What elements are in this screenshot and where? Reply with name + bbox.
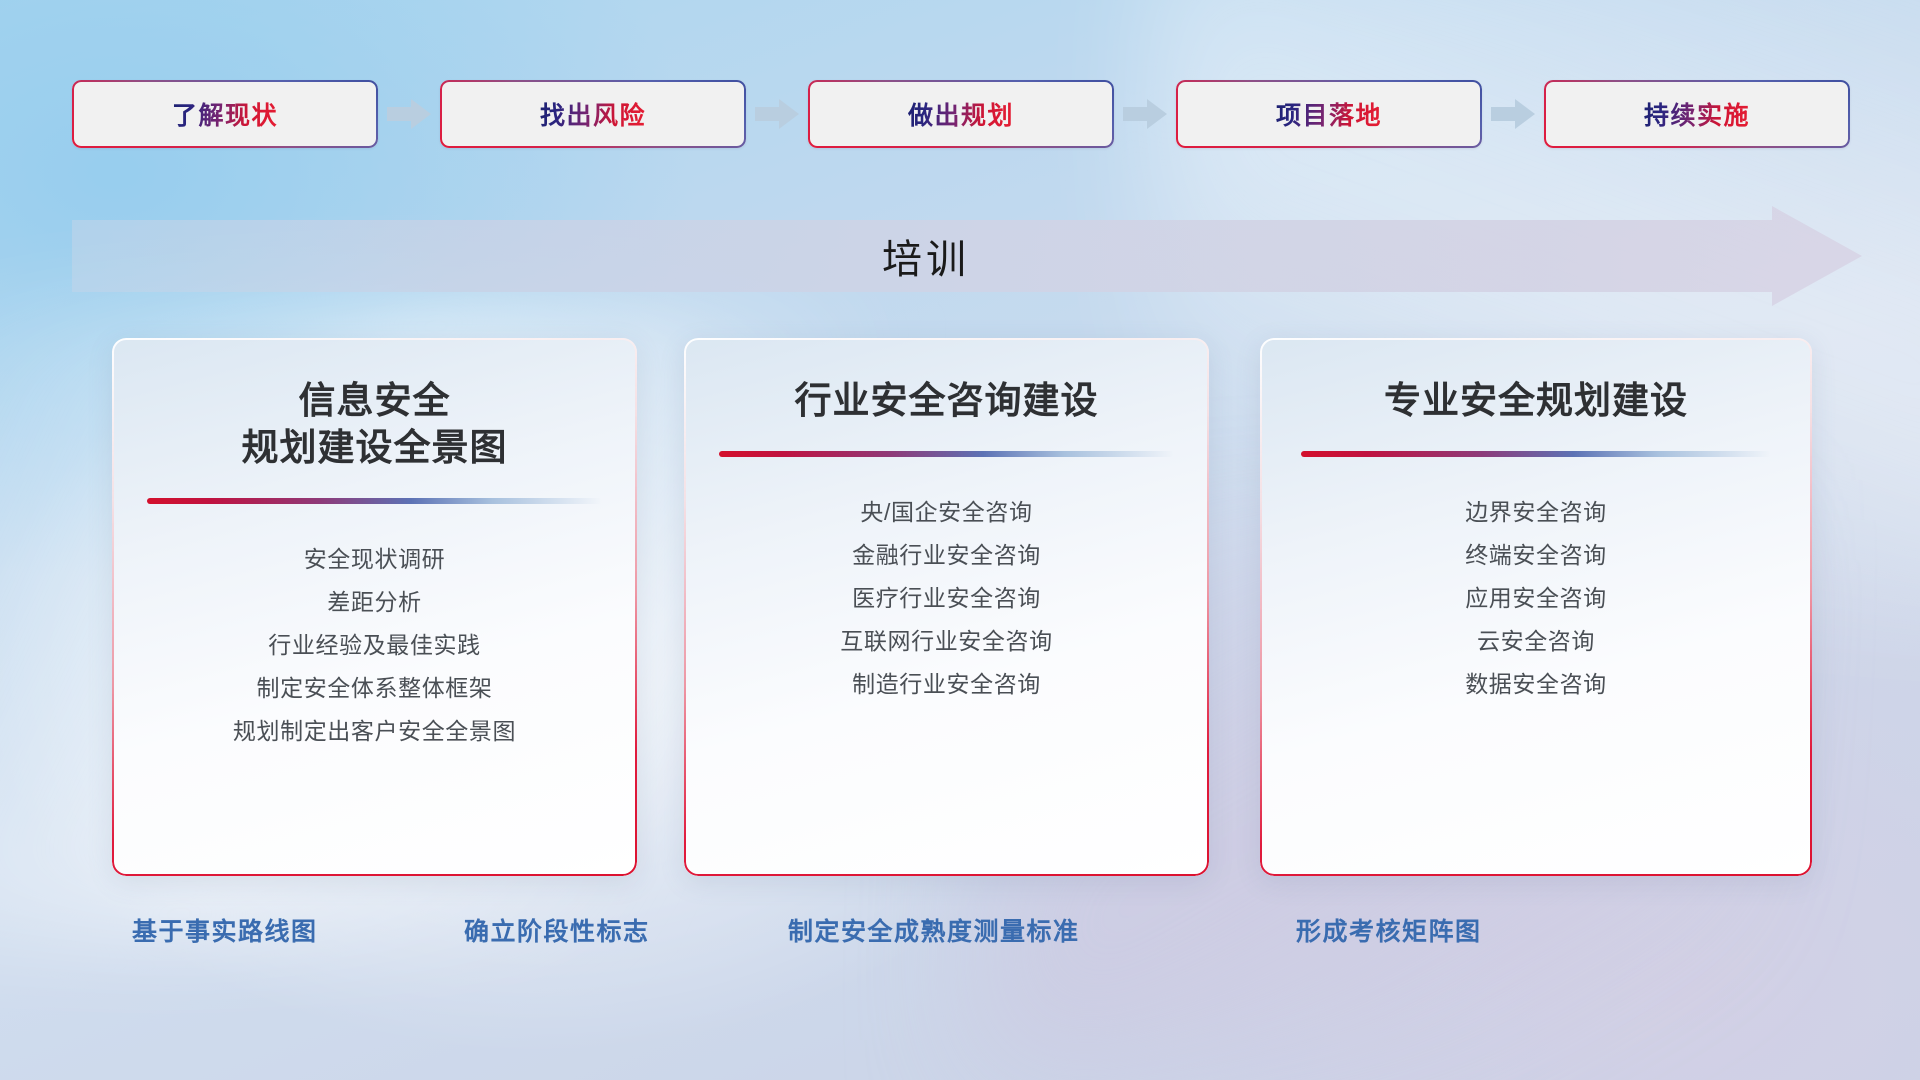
list-item: 数据安全咨询 — [1286, 663, 1786, 706]
step-box-1[interactable]: 了解现状 — [72, 80, 378, 148]
card-professional-security-planning[interactable]: 专业安全规划建设 边界安全咨询 终端安全咨询 应用安全咨询 云安全咨询 数据安全… — [1260, 338, 1812, 876]
card-row: 信息安全 规划建设全景图 安全现状调研 差距分析 行业经验及最佳实践 制定安全体… — [112, 338, 1812, 878]
training-banner: 培训 — [72, 206, 1862, 306]
caption-3: 制定安全成熟度测量标准 — [788, 912, 1080, 948]
list-item: 差距分析 — [138, 581, 611, 624]
step-box-5[interactable]: 持续实施 — [1544, 80, 1850, 148]
list-item: 应用安全咨询 — [1286, 577, 1786, 620]
step-label-2: 找出风险 — [540, 96, 646, 132]
card-title-3: 专业安全规划建设 — [1384, 378, 1688, 425]
step-box-3[interactable]: 做出规划 — [808, 80, 1114, 148]
step-box-2[interactable]: 找出风险 — [440, 80, 746, 148]
list-item: 制造行业安全咨询 — [710, 663, 1183, 706]
step-label-1: 了解现状 — [172, 96, 278, 132]
step-arrow-icon-1 — [378, 80, 440, 148]
step-arrow-icon-3 — [1114, 80, 1176, 148]
list-item: 云安全咨询 — [1286, 620, 1786, 663]
card-info-security-panorama[interactable]: 信息安全 规划建设全景图 安全现状调研 差距分析 行业经验及最佳实践 制定安全体… — [112, 338, 637, 876]
list-item: 央/国企安全咨询 — [710, 491, 1183, 534]
card-divider-1 — [147, 498, 602, 504]
card-title-1: 信息安全 规划建设全景图 — [242, 378, 508, 472]
list-item: 金融行业安全咨询 — [710, 534, 1183, 577]
list-item: 制定安全体系整体框架 — [138, 667, 611, 710]
footer-caption-row: 基于事实路线图 确立阶段性标志 制定安全成熟度测量标准 形成考核矩阵图 — [0, 912, 1920, 964]
card-divider-2 — [719, 451, 1174, 457]
caption-1: 基于事实路线图 — [132, 912, 318, 948]
step-label-3: 做出规划 — [908, 96, 1014, 132]
list-item: 规划制定出客户安全全景图 — [138, 710, 611, 753]
process-step-row: 了解现状 找出风险 做出规划 项目落地 — [72, 78, 1856, 150]
list-item: 互联网行业安全咨询 — [710, 620, 1183, 663]
list-item: 医疗行业安全咨询 — [710, 577, 1183, 620]
list-item: 安全现状调研 — [138, 538, 611, 581]
card-list-3: 边界安全咨询 终端安全咨询 应用安全咨询 云安全咨询 数据安全咨询 — [1286, 491, 1786, 706]
step-arrow-icon-4 — [1482, 80, 1544, 148]
card-divider-3 — [1301, 451, 1771, 457]
banner-title: 培训 — [72, 206, 1862, 306]
card-list-2: 央/国企安全咨询 金融行业安全咨询 医疗行业安全咨询 互联网行业安全咨询 制造行… — [710, 491, 1183, 706]
caption-2: 确立阶段性标志 — [464, 912, 650, 948]
list-item: 终端安全咨询 — [1286, 534, 1786, 577]
slide-canvas: 了解现状 找出风险 做出规划 项目落地 — [0, 0, 1920, 1080]
card-industry-security-consulting[interactable]: 行业安全咨询建设 央/国企安全咨询 金融行业安全咨询 医疗行业安全咨询 互联网行… — [684, 338, 1209, 876]
step-label-5: 持续实施 — [1644, 96, 1750, 132]
step-label-4: 项目落地 — [1276, 96, 1382, 132]
step-arrow-icon-2 — [746, 80, 808, 148]
step-box-4[interactable]: 项目落地 — [1176, 80, 1482, 148]
list-item: 行业经验及最佳实践 — [138, 624, 611, 667]
list-item: 边界安全咨询 — [1286, 491, 1786, 534]
caption-4: 形成考核矩阵图 — [1296, 912, 1482, 948]
card-list-1: 安全现状调研 差距分析 行业经验及最佳实践 制定安全体系整体框架 规划制定出客户… — [138, 538, 611, 753]
card-title-2: 行业安全咨询建设 — [795, 378, 1099, 425]
